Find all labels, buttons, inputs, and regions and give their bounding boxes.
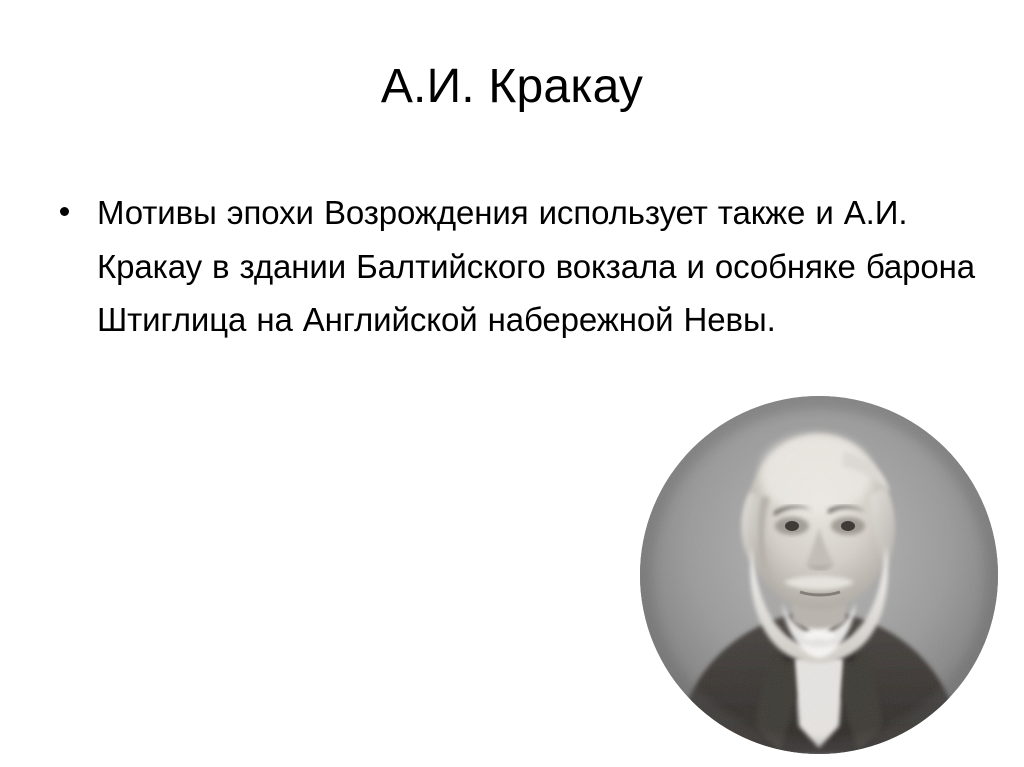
portrait-photograph — [640, 396, 998, 754]
portrait-circle-mask — [640, 396, 998, 754]
bullet-item-text: Мотивы эпохи Возрождения использует такж… — [97, 186, 976, 347]
page-title: А.И. Кракау — [0, 58, 1024, 116]
list-item: Мотивы эпохи Возрождения использует такж… — [46, 186, 976, 347]
bullet-dot-icon — [60, 207, 69, 216]
slide-canvas: А.И. Кракау Мотивы эпохи Возрождения исп… — [0, 0, 1024, 767]
portrait-illustration — [640, 396, 998, 754]
bullet-list: Мотивы эпохи Возрождения использует такж… — [46, 186, 976, 347]
